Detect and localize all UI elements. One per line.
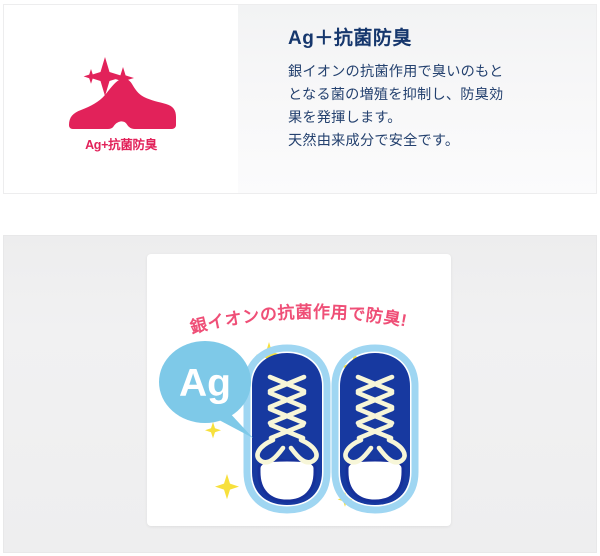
feature-description-line: 果を発揮します。 (288, 107, 570, 130)
feature-description-line: 天然由来成分で安全です。 (288, 130, 570, 153)
left-shoe (247, 348, 327, 510)
shoes-illustration: Ag (147, 334, 451, 524)
sparkling-shoe-icon: Ag+抗菌防臭 (61, 47, 181, 151)
ag-speech-bubble: Ag (159, 341, 253, 438)
logo-caption: Ag+抗菌防臭 (61, 139, 181, 152)
feature-text-block: Ag＋抗菌防臭 銀イオンの抗菌作用で臭いのもと となる菌の増殖を抑制し、防臭効 … (238, 5, 596, 193)
ag-bubble-label: Ag (179, 362, 231, 405)
illustration-headline-text: 銀イオンの抗菌作用で防臭! (188, 302, 409, 338)
illustration-panel: 銀イオンの抗菌作用で防臭! (3, 235, 597, 553)
illustration-card: 銀イオンの抗菌作用で防臭! (147, 254, 451, 526)
feature-description-line: となる菌の増殖を抑制し、防臭効 (288, 84, 570, 107)
feature-title: Ag＋抗菌防臭 (288, 29, 570, 50)
feature-description: 銀イオンの抗菌作用で臭いのもと となる菌の増殖を抑制し、防臭効 果を発揮します。… (288, 61, 570, 153)
feature-panel: Ag+抗菌防臭 Ag＋抗菌防臭 銀イオンの抗菌作用で臭いのもと となる菌の増殖を… (3, 4, 597, 194)
logo-box: Ag+抗菌防臭 (4, 5, 238, 193)
svg-text:銀イオンの抗菌作用で防臭!: 銀イオンの抗菌作用で防臭! (188, 302, 409, 338)
right-shoe (335, 348, 415, 510)
feature-description-line: 銀イオンの抗菌作用で臭いのもと (288, 61, 570, 84)
